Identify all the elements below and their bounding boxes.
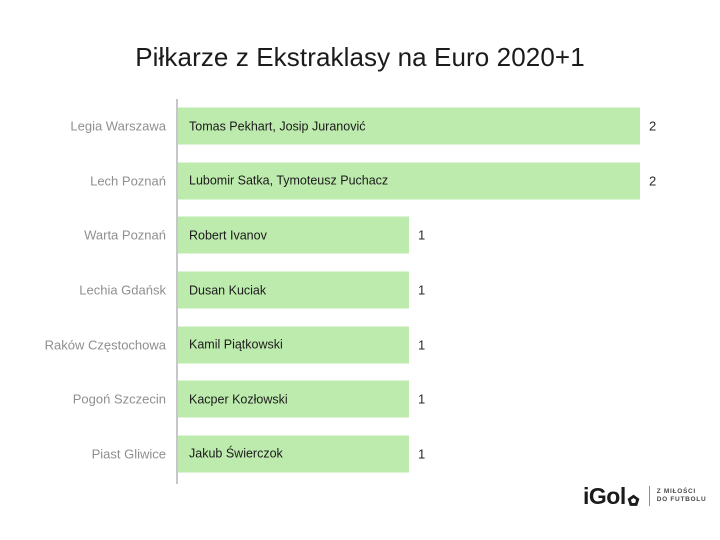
table-row: Raków Częstochowa Kamil Piątkowski 1	[0, 317, 720, 372]
bar-value-label: 2	[649, 119, 656, 134]
football-pentagon-icon	[627, 494, 640, 507]
category-label: Legia Warszawa	[70, 119, 166, 134]
bar-annotation: Tomas Pekhart, Josip Juranović	[189, 119, 365, 133]
logo-wordmark: iGol	[583, 485, 626, 508]
chart-container: Piłkarze z Ekstraklasy na Euro 2020+1 Le…	[0, 0, 720, 540]
bar-annotation: Robert Ivanov	[189, 228, 267, 242]
igol-logo: iGol Z MIŁOŚCI DO FUTBOLU	[583, 481, 706, 511]
table-row: Lech Poznań Lubomir Satka, Tymoteusz Puc…	[0, 154, 720, 209]
bar-group: Tomas Pekhart, Josip Juranović 2	[178, 108, 656, 145]
table-row: Pogoń Szczecin Kacper Kozłowski 1	[0, 372, 720, 427]
table-row: Lechia Gdańsk Dusan Kuciak 1	[0, 263, 720, 318]
table-row: Warta Poznań Robert Ivanov 1	[0, 208, 720, 263]
logo-tagline: Z MIŁOŚCI DO FUTBOLU	[657, 488, 707, 504]
bar[interactable]: Robert Ivanov	[178, 217, 409, 254]
bar-group: Robert Ivanov 1	[178, 217, 425, 254]
bar[interactable]: Dusan Kuciak	[178, 272, 409, 309]
category-label: Lechia Gdańsk	[79, 283, 166, 298]
bar-group: Dusan Kuciak 1	[178, 272, 425, 309]
bar[interactable]: Tomas Pekhart, Josip Juranović	[178, 108, 640, 145]
category-label: Lech Poznań	[90, 173, 166, 188]
bar-value-label: 1	[418, 228, 425, 243]
chart-title: Piłkarze z Ekstraklasy na Euro 2020+1	[0, 42, 720, 73]
table-row: Legia Warszawa Tomas Pekhart, Josip Jura…	[0, 99, 720, 154]
bar-group: Kacper Kozłowski 1	[178, 381, 425, 418]
bar-annotation: Dusan Kuciak	[189, 283, 266, 297]
bar-value-label: 1	[418, 337, 425, 352]
bar[interactable]: Kacper Kozłowski	[178, 381, 409, 418]
bar-group: Lubomir Satka, Tymoteusz Puchacz 2	[178, 162, 656, 199]
logo-tagline-line1: Z MIŁOŚCI	[657, 488, 707, 496]
category-label: Raków Częstochowa	[45, 337, 166, 352]
bar-value-label: 2	[649, 173, 656, 188]
bar-value-label: 1	[418, 283, 425, 298]
bar-group: Kamil Piątkowski 1	[178, 326, 425, 363]
bar-annotation: Jakub Świerczok	[189, 447, 283, 461]
logo-divider	[649, 486, 650, 506]
bar[interactable]: Jakub Świerczok	[178, 435, 409, 472]
category-label: Piast Gliwice	[92, 446, 166, 461]
bar-value-label: 1	[418, 446, 425, 461]
plot-area: Legia Warszawa Tomas Pekhart, Josip Jura…	[0, 99, 720, 489]
bar[interactable]: Kamil Piątkowski	[178, 326, 409, 363]
bar-rows: Legia Warszawa Tomas Pekhart, Josip Jura…	[0, 99, 720, 481]
bar-annotation: Kamil Piątkowski	[189, 338, 283, 352]
bar-group: Jakub Świerczok 1	[178, 435, 425, 472]
bar-annotation: Lubomir Satka, Tymoteusz Puchacz	[189, 174, 388, 188]
table-row: Piast Gliwice Jakub Świerczok 1	[0, 427, 720, 482]
bar-value-label: 1	[418, 392, 425, 407]
bar-annotation: Kacper Kozłowski	[189, 392, 288, 406]
category-label: Pogoń Szczecin	[73, 392, 166, 407]
bar[interactable]: Lubomir Satka, Tymoteusz Puchacz	[178, 162, 640, 199]
logo-tagline-line2: DO FUTBOLU	[657, 496, 707, 504]
category-label: Warta Poznań	[84, 228, 166, 243]
